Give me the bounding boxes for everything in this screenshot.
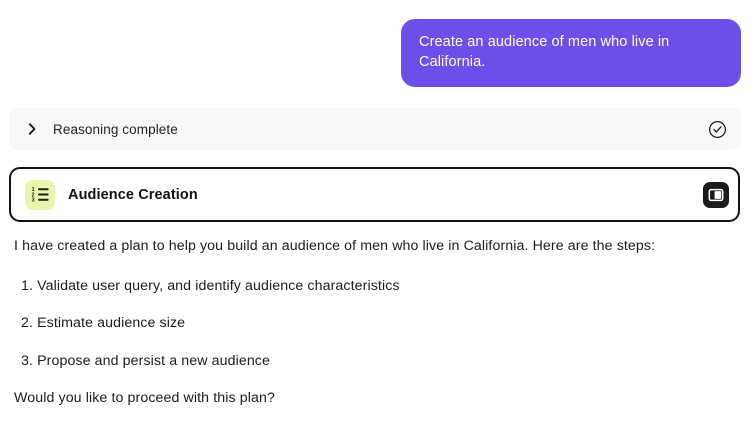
assistant-intro-text: I have created a plan to help you build …: [14, 236, 740, 257]
chat-conversation-panel: Create an audience of men who live in Ca…: [0, 0, 750, 431]
plan-steps-list: 1. Validate user query, and identify aud…: [14, 276, 740, 372]
panel-right-toggle-button[interactable]: [703, 182, 729, 208]
user-message-row: Create an audience of men who live in Ca…: [0, 0, 750, 87]
plan-step-item: 2. Estimate audience size: [21, 313, 740, 334]
plan-step-item: 1. Validate user query, and identify aud…: [21, 276, 740, 297]
ordered-list-icon: 1 2 3: [25, 180, 55, 210]
plan-step-item: 3. Propose and persist a new audience: [21, 351, 740, 372]
panel-right-icon: [708, 187, 724, 203]
assistant-closing-question: Would you like to proceed with this plan…: [14, 388, 740, 409]
user-message-bubble: Create an audience of men who live in Ca…: [401, 19, 741, 87]
reasoning-status-label: Reasoning complete: [53, 122, 708, 137]
svg-text:3: 3: [31, 198, 34, 204]
reasoning-summary-bar[interactable]: Reasoning complete: [9, 108, 741, 150]
audience-creation-card-title: Audience Creation: [68, 187, 703, 203]
check-circle-icon: [708, 120, 727, 139]
assistant-message: I have created a plan to help you build …: [14, 236, 740, 409]
chevron-right-icon[interactable]: [25, 122, 39, 136]
audience-creation-card[interactable]: 1 2 3 Audience Creation: [9, 167, 740, 222]
